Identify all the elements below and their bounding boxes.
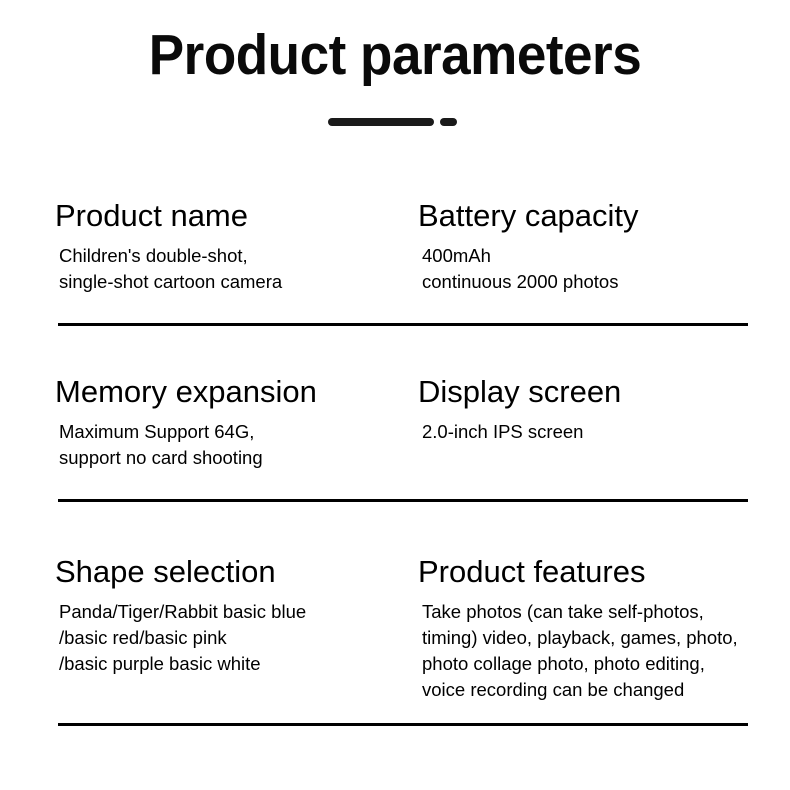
- product-parameters-page: Product parameters Product name Children…: [0, 0, 790, 790]
- spec-item-product-name: Product name Children's double-shot, sin…: [55, 198, 405, 295]
- spec-value: 400mAh continuous 2000 photos: [422, 243, 773, 295]
- row-divider: [58, 499, 748, 502]
- spec-item-battery-capacity: Battery capacity 400mAh continuous 2000 …: [418, 198, 773, 295]
- spec-label: Shape selection: [55, 554, 405, 590]
- spec-value: Maximum Support 64G, support no card sho…: [59, 419, 405, 471]
- spec-item-display-screen: Display screen 2.0-inch IPS screen: [418, 374, 773, 445]
- spec-row: Memory expansion Maximum Support 64G, su…: [0, 374, 790, 502]
- spec-value: Panda/Tiger/Rabbit basic blue /basic red…: [59, 599, 405, 677]
- spec-value: 2.0-inch IPS screen: [422, 419, 773, 445]
- spec-value: Children's double-shot, single-shot cart…: [59, 243, 405, 295]
- spec-label: Display screen: [418, 374, 773, 410]
- spec-item-product-features: Product features Take photos (can take s…: [418, 554, 773, 703]
- spec-label: Product features: [418, 554, 773, 590]
- spec-item-shape-selection: Shape selection Panda/Tiger/Rabbit basic…: [55, 554, 405, 677]
- spec-row: Product name Children's double-shot, sin…: [0, 198, 790, 326]
- spec-label: Memory expansion: [55, 374, 405, 410]
- spec-value: Take photos (can take self-photos, timin…: [422, 599, 773, 703]
- spec-table: Product name Children's double-shot, sin…: [0, 0, 790, 790]
- row-divider: [58, 323, 748, 326]
- spec-row: Shape selection Panda/Tiger/Rabbit basic…: [0, 554, 790, 726]
- spec-label: Battery capacity: [418, 198, 773, 234]
- spec-item-memory-expansion: Memory expansion Maximum Support 64G, su…: [55, 374, 405, 471]
- spec-label: Product name: [55, 198, 405, 234]
- row-divider: [58, 723, 748, 726]
